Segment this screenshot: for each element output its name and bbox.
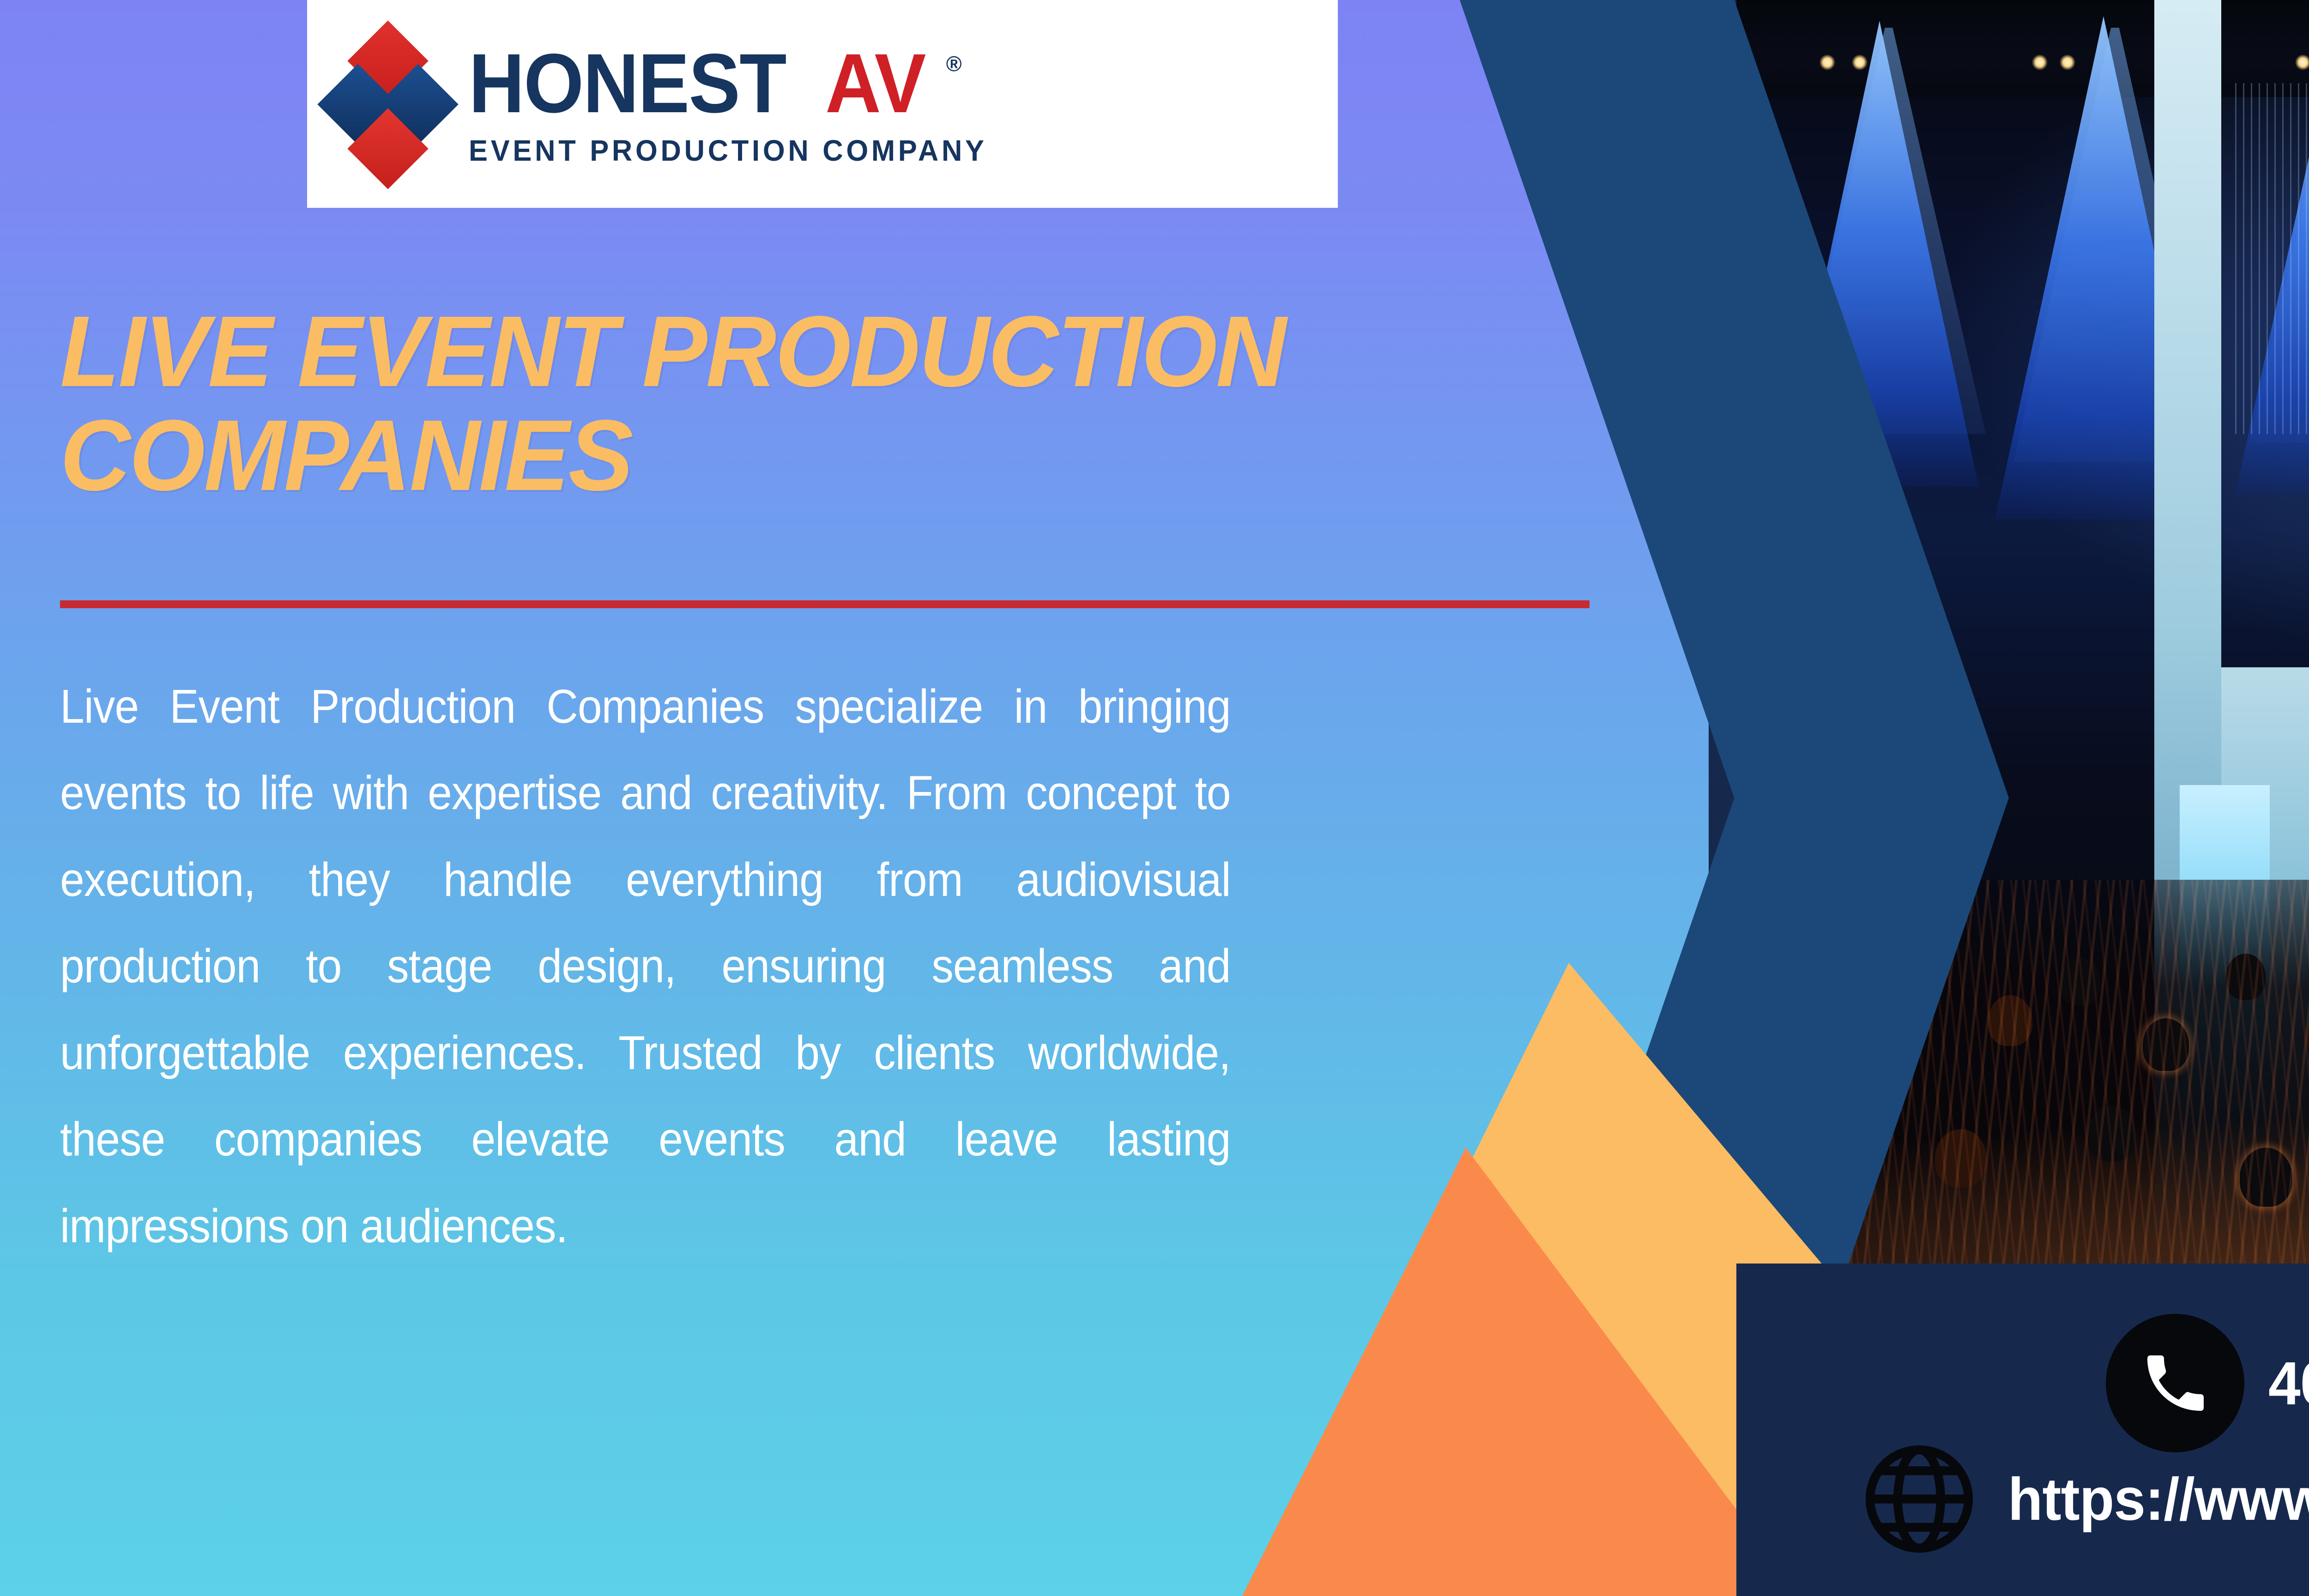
logo-wordmark: HONEST AV ® EVENT PRODUCTION COMPANY	[469, 44, 1009, 167]
headline-line-1: LIVE EVENT PRODUCTION	[60, 296, 1285, 408]
four-diamond-logo-icon	[328, 30, 447, 182]
registered-mark-icon: ®	[946, 54, 961, 74]
headline-line-2: COMPANIES	[60, 399, 632, 512]
logo-name-accent: AV	[825, 44, 925, 123]
contact-phone[interactable]: 407-606-8008	[2106, 1314, 2309, 1452]
company-logo[interactable]: HONEST AV ® EVENT PRODUCTION COMPANY	[307, 0, 1338, 208]
page-title: LIVE EVENT PRODUCTION COMPANIES	[60, 300, 1583, 508]
logo-tagline: EVENT PRODUCTION COMPANY	[469, 133, 987, 168]
contact-website[interactable]: https://www.honestavpros.com/	[1856, 1436, 2309, 1562]
globe-icon	[1856, 1436, 1982, 1562]
promotional-banner: HONEST AV ® EVENT PRODUCTION COMPANY LIV…	[0, 0, 2309, 1596]
phone-icon	[2106, 1314, 2244, 1452]
website-url: https://www.honestavpros.com/	[2008, 1464, 2309, 1534]
phone-number: 407-606-8008	[2268, 1348, 2309, 1418]
logo-name-primary: HONEST	[469, 44, 786, 123]
title-divider	[60, 600, 1590, 608]
ceiling-truss	[1736, 0, 2309, 97]
body-paragraph: Live Event Production Companies speciali…	[60, 663, 1231, 1269]
